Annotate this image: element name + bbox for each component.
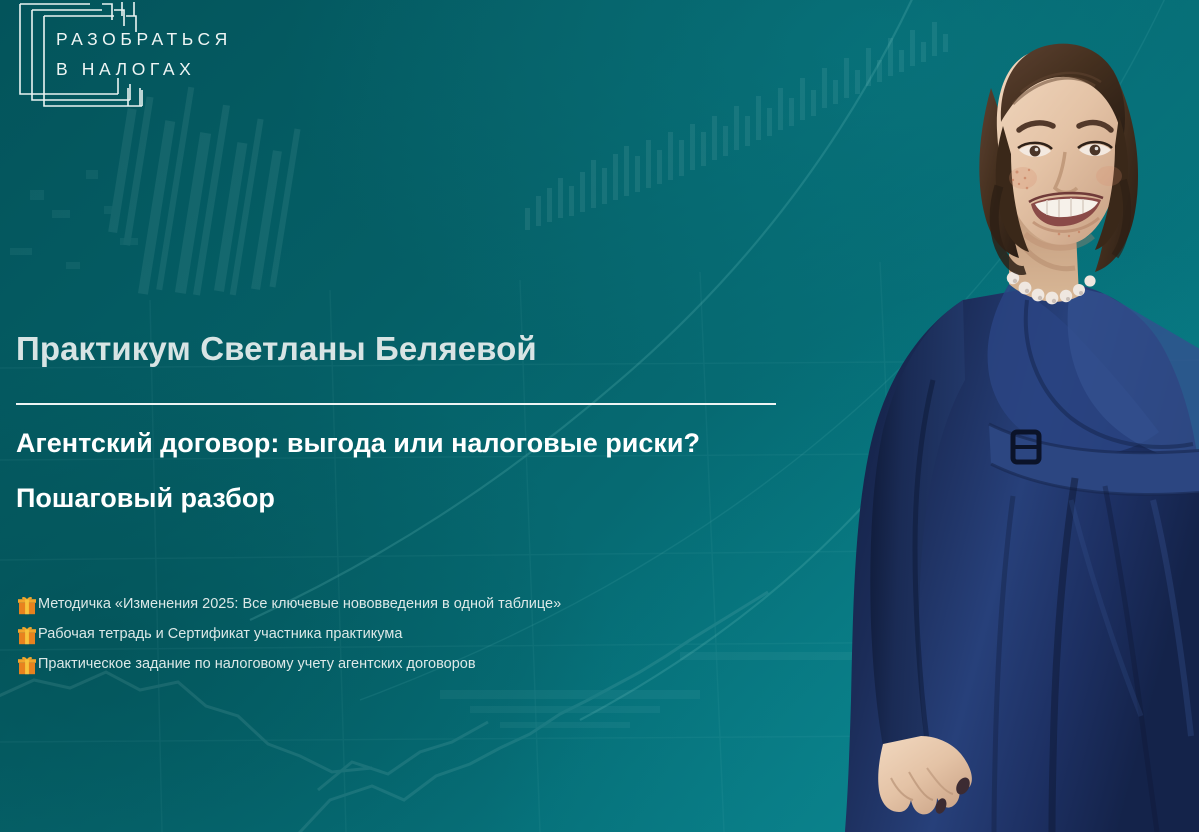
presenter-name: Практикум Светланы Беляевой <box>16 330 537 368</box>
list-item-label: Рабочая тетрадь и Сертификат участника п… <box>38 625 402 644</box>
list-item: Практическое задание по налоговому учету… <box>16 654 561 684</box>
gift-icon <box>16 626 38 645</box>
gift-icon <box>16 596 38 615</box>
list-item-label: Методичка «Изменения 2025: Все ключевые … <box>38 595 561 614</box>
brand-logo-text: РАЗОБРАТЬСЯ В НАЛОГАХ <box>56 24 232 84</box>
gift-icon <box>16 656 38 675</box>
brand-logo-line-2: В НАЛОГАХ <box>56 54 232 84</box>
presenter-photo <box>813 0 1199 832</box>
promo-banner: РАЗОБРАТЬСЯ В НАЛОГАХ Практикум Светланы… <box>0 0 1199 832</box>
divider <box>16 403 776 405</box>
page-subtitle: Пошаговый разбор <box>16 483 275 514</box>
brand-logo-line-1: РАЗОБРАТЬСЯ <box>56 29 232 49</box>
brand-logo[interactable]: РАЗОБРАТЬСЯ В НАЛОГАХ <box>16 2 256 112</box>
page-title: Агентский договор: выгода или налоговые … <box>16 428 700 459</box>
list-item: Методичка «Изменения 2025: Все ключевые … <box>16 594 561 624</box>
list-item: Рабочая тетрадь и Сертификат участника п… <box>16 624 561 654</box>
bonus-list: Методичка «Изменения 2025: Все ключевые … <box>16 594 561 684</box>
list-item-label: Практическое задание по налоговому учету… <box>38 655 476 674</box>
